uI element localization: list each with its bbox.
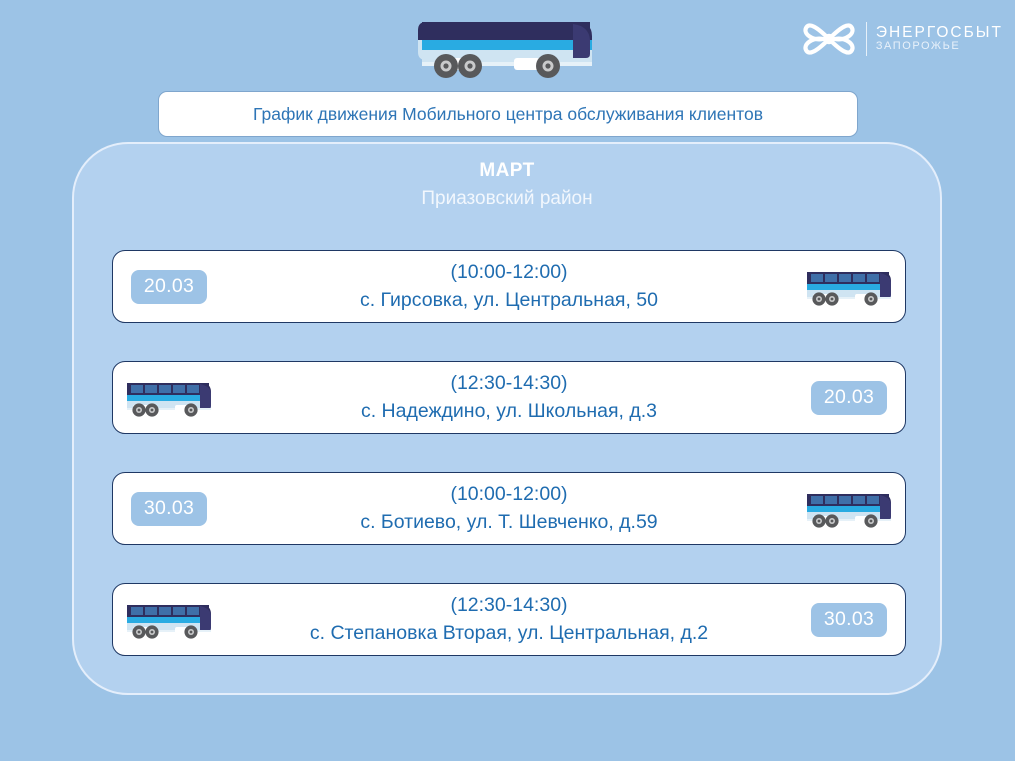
table-row[interactable]: 30.03 (10:00-12:00) с. Ботиево, ул. Т. Ш… — [112, 472, 906, 545]
schedule-panel: МАРТ Приазовский район 20.03 (10:00-12:0… — [72, 142, 942, 695]
row-place: с. Надеждино, ул. Школьная, д.3 — [223, 398, 795, 426]
row-time: (12:30-14:30) — [223, 370, 795, 398]
table-row[interactable]: (12:30-14:30) с. Степановка Вторая, ул. … — [112, 583, 906, 656]
bus-icon — [418, 10, 598, 82]
row-body: (10:00-12:00) с. Гирсовка, ул. Центральн… — [219, 259, 799, 314]
row-body: (12:30-14:30) с. Степановка Вторая, ул. … — [219, 592, 799, 647]
row-left-slot — [119, 377, 219, 419]
row-right-slot: 20.03 — [799, 381, 899, 415]
month-label: МАРТ — [74, 157, 940, 185]
logo-divider — [866, 22, 867, 56]
table-row[interactable]: (12:30-14:30) с. Надеждино, ул. Школьная… — [112, 361, 906, 434]
table-row[interactable]: 20.03 (10:00-12:00) с. Гирсовка, ул. Цен… — [112, 250, 906, 323]
row-right-slot — [799, 266, 899, 308]
bus-icon — [125, 599, 213, 641]
page-title-bar: График движения Мобильного центра обслуж… — [158, 91, 858, 137]
row-time: (12:30-14:30) — [223, 592, 795, 620]
bus-icon — [125, 377, 213, 419]
logo-line-1: ЭНЕРГОСБЫТ — [876, 25, 1003, 42]
row-body: (12:30-14:30) с. Надеждино, ул. Школьная… — [219, 370, 799, 425]
row-left-slot: 20.03 — [119, 270, 219, 304]
bus-icon — [805, 266, 893, 308]
atom-swirl-icon — [801, 14, 857, 64]
date-badge: 20.03 — [131, 270, 207, 304]
page-header: ЭНЕРГОСБЫТ ЗАПОРОЖЬЕ — [0, 0, 1015, 88]
row-left-slot — [119, 599, 219, 641]
row-place: с. Гирсовка, ул. Центральная, 50 — [223, 287, 795, 315]
row-body: (10:00-12:00) с. Ботиево, ул. Т. Шевченк… — [219, 481, 799, 536]
panel-heading: МАРТ Приазовский район — [74, 157, 940, 212]
row-place: с. Ботиево, ул. Т. Шевченко, д.59 — [223, 509, 795, 537]
district-label: Приазовский район — [74, 185, 940, 213]
date-badge: 20.03 — [811, 381, 887, 415]
row-left-slot: 30.03 — [119, 492, 219, 526]
row-time: (10:00-12:00) — [223, 259, 795, 287]
page-title: График движения Мобильного центра обслуж… — [253, 104, 763, 125]
schedule-rows: 20.03 (10:00-12:00) с. Гирсовка, ул. Цен… — [112, 250, 906, 656]
logo-text: ЭНЕРГОСБЫТ ЗАПОРОЖЬЕ — [876, 25, 1003, 54]
date-badge: 30.03 — [811, 603, 887, 637]
row-time: (10:00-12:00) — [223, 481, 795, 509]
logo-line-2: ЗАПОРОЖЬЕ — [876, 41, 1003, 53]
row-right-slot — [799, 488, 899, 530]
brand-logo: ЭНЕРГОСБЫТ ЗАПОРОЖЬЕ — [801, 14, 1003, 64]
date-badge: 30.03 — [131, 492, 207, 526]
bus-icon — [805, 488, 893, 530]
row-right-slot: 30.03 — [799, 603, 899, 637]
row-place: с. Степановка Вторая, ул. Центральная, д… — [223, 620, 795, 648]
